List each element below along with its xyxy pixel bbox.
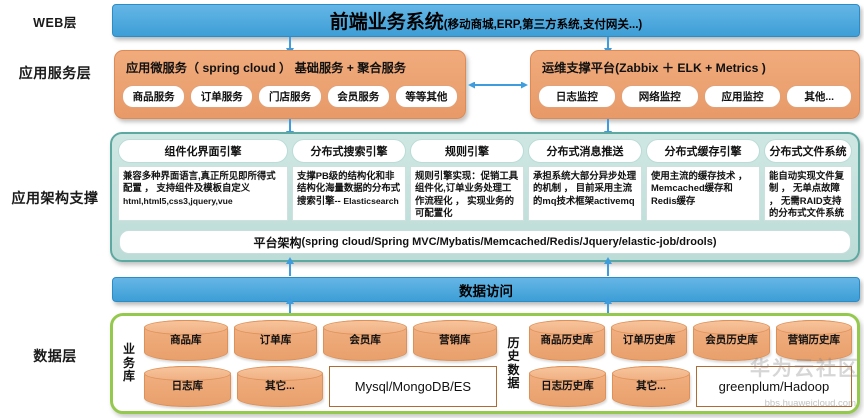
db-log-label: 日志库	[172, 381, 204, 393]
arch-col-body-ui-engine-lat: html,html5,css3,jquery,vue	[123, 196, 233, 206]
connector-web-to-ops-platform	[607, 37, 609, 49]
app-microservice-title: 应用微服务（ spring cloud ） 基础服务 + 聚合服务	[126, 58, 458, 76]
connector-web-to-app-micro	[289, 37, 291, 49]
connector-data-access-to-architecture-left	[289, 263, 291, 276]
db-marketing[interactable]: 营销库	[413, 320, 497, 361]
db-order-history-label: 订单历史库	[623, 335, 676, 347]
db-member-history[interactable]: 会员历史库	[693, 320, 769, 361]
layer-label-web: WEB层	[0, 12, 110, 31]
arch-col-body-file-system: 能自动实现文件复制 ， 无单点故障 ， 无需RAID支持的分布式文件系统 OSS…	[764, 166, 852, 221]
data-layer-container: 业务库 商品库 订单库 会员库 营销库 日志库 其它... Mysql/Mong…	[110, 313, 860, 414]
web-layer-bar: 前端业务系统(移动商城,ERP,第三方系统,支付网关...)	[112, 4, 860, 37]
web-layer-title-sub: (移动商城,ERP,第三方系统,支付网关...)	[444, 19, 643, 31]
pill-network-monitor[interactable]: 网络监控	[621, 85, 699, 108]
db-history-tech-box: greenplum/Hadoop	[696, 366, 852, 407]
arch-col-body-file-system-cn: 能自动实现文件复制 ， 无单点故障 ， 无需RAID支持的分布式文件系统	[769, 170, 844, 218]
db-order-label: 订单库	[260, 335, 292, 347]
layer-label-app-service: 应用服务层	[0, 63, 110, 83]
web-layer-title-main: 前端业务系统	[330, 12, 444, 33]
arch-col-file-system: 分布式文件系统 能自动实现文件复制 ， 无单点故障 ， 无需RAID支持的分布式…	[764, 139, 852, 221]
db-order[interactable]: 订单库	[234, 320, 318, 361]
arch-col-body-rule-engine: 规则引擎实现：促销工具组件化,订单业务处理工作流程化 ， 实现业务的可配置化	[410, 166, 524, 221]
db-product-history[interactable]: 商品历史库	[529, 320, 605, 361]
db-product-history-label: 商品历史库	[540, 335, 593, 347]
connector-app-micro-to-ops-platform	[474, 84, 522, 86]
db-group-history-label: 历史数据	[503, 320, 525, 407]
arch-col-head-cache-engine[interactable]: 分布式缓存引擎	[646, 139, 760, 163]
db-row-history-primary: 商品历史库 订单历史库 会员历史库 营销历史库	[529, 320, 852, 361]
connector-app-micro-to-architecture	[289, 119, 291, 132]
arch-col-cache-engine: 分布式缓存引擎 使用主流的缓存技术 ， Memcached缓存和Redis缓存	[646, 139, 760, 221]
db-other-history-label: 其它...	[636, 381, 666, 393]
arch-col-body-ui-engine-cn: 兼容多种界面语言,真正所见即所得式配置 ， 支持组件及模板自定义	[123, 170, 276, 193]
pill-order-service[interactable]: 订单服务	[190, 85, 253, 108]
db-member-history-label: 会员历史库	[705, 335, 758, 347]
db-group-business-grid: 商品库 订单库 会员库 营销库 日志库 其它... Mysql/MongoDB/…	[140, 320, 497, 407]
arch-col-head-rule-engine[interactable]: 规则引擎	[410, 139, 524, 163]
db-log[interactable]: 日志库	[144, 366, 231, 407]
arch-col-body-cache-engine-cn: 使用主流的缓存技术 ， Memcached缓存和Redis缓存	[651, 170, 747, 206]
pill-app-monitor[interactable]: 应用监控	[704, 85, 782, 108]
db-member[interactable]: 会员库	[323, 320, 407, 361]
architecture-diagram: WEB层 应用服务层 应用架构支撑 数据层 前端业务系统(移动商城,ERP,第三…	[0, 0, 864, 418]
arch-col-body-rule-engine-cn: 规则引擎实现：促销工具组件化,订单业务处理工作流程化 ， 实现业务的可配置化	[415, 170, 518, 218]
db-other-label: 其它...	[265, 381, 295, 393]
db-log-history[interactable]: 日志历史库	[529, 366, 607, 407]
db-group-business-label: 业务库	[118, 320, 140, 407]
db-product-label: 商品库	[170, 335, 202, 347]
db-marketing-history-label: 营销历史库	[788, 335, 841, 347]
db-row-business-primary: 商品库 订单库 会员库 营销库	[144, 320, 497, 361]
arch-col-search-engine: 分布式搜索引擎 支撑PB级的结构化和非结构化海量数据的分布式搜索引擎-- Ela…	[292, 139, 406, 221]
db-member-label: 会员库	[349, 335, 381, 347]
layer-label-architecture-support: 应用架构支撑	[0, 188, 110, 208]
pill-log-monitor[interactable]: 日志监控	[538, 85, 616, 108]
pill-product-service[interactable]: 商品服务	[122, 85, 185, 108]
arch-col-body-message-push-cn: 承担系统大部分异步处理的机制 ， 目前采用主流的mq技术框架activemq	[533, 170, 636, 206]
platform-architecture-title-cn: 平台架构	[253, 234, 301, 251]
db-group-history: 历史数据 商品历史库 订单历史库 会员历史库 营销历史库 日志历史库 其它...…	[503, 320, 852, 407]
db-other[interactable]: 其它...	[237, 366, 324, 407]
arch-col-head-message-push[interactable]: 分布式消息推送	[528, 139, 642, 163]
pill-member-service[interactable]: 会员服务	[327, 85, 390, 108]
arch-col-message-push: 分布式消息推送 承担系统大部分异步处理的机制 ， 目前采用主流的mq技术框架ac…	[528, 139, 642, 221]
arch-col-body-search-engine: 支撑PB级的结构化和非结构化海量数据的分布式搜索引擎-- Elasticsear…	[292, 166, 406, 221]
arch-col-head-file-system[interactable]: 分布式文件系统	[764, 139, 852, 163]
db-order-history[interactable]: 订单历史库	[611, 320, 687, 361]
ops-support-platform-pill-row: 日志监控 网络监控 应用监控 其他...	[538, 85, 852, 108]
architecture-support-container: 组件化界面引擎 兼容多种界面语言,真正所见即所得式配置 ， 支持组件及模板自定义…	[110, 132, 860, 262]
platform-architecture-title-lat: (spring cloud/Spring MVC/Mybatis/Memcach…	[301, 236, 716, 248]
data-access-title: 数据访问	[459, 280, 513, 300]
db-business-tech-box: Mysql/MongoDB/ES	[329, 366, 496, 407]
pill-other-service[interactable]: 等等其他	[395, 85, 458, 108]
db-marketing-label: 营销库	[439, 335, 471, 347]
arch-col-body-cache-engine: 使用主流的缓存技术 ， Memcached缓存和Redis缓存	[646, 166, 760, 221]
ops-support-platform-title: 运维支撑平台(Zabbix ＋ ELK + Metrics )	[542, 58, 852, 76]
arch-col-rule-engine: 规则引擎 规则引擎实现：促销工具组件化,订单业务处理工作流程化 ， 实现业务的可…	[410, 139, 524, 221]
connector-data-access-to-architecture-right	[607, 263, 609, 276]
arch-col-head-ui-engine[interactable]: 组件化界面引擎	[118, 139, 288, 163]
app-microservice-box: 应用微服务（ spring cloud ） 基础服务 + 聚合服务 商品服务 订…	[114, 50, 466, 119]
connector-ops-platform-to-architecture	[607, 119, 609, 132]
db-log-history-label: 日志历史库	[541, 381, 594, 393]
layer-label-data: 数据层	[0, 346, 110, 366]
ops-support-platform-box: 运维支撑平台(Zabbix ＋ ELK + Metrics ) 日志监控 网络监…	[530, 50, 860, 119]
arch-col-head-search-engine[interactable]: 分布式搜索引擎	[292, 139, 406, 163]
db-marketing-history[interactable]: 营销历史库	[776, 320, 852, 361]
db-other-history[interactable]: 其它...	[612, 366, 690, 407]
platform-architecture-bar: 平台架构(spring cloud/Spring MVC/Mybatis/Mem…	[119, 230, 851, 254]
db-product[interactable]: 商品库	[144, 320, 228, 361]
db-row-business-secondary: 日志库 其它... Mysql/MongoDB/ES	[144, 366, 497, 407]
db-group-history-grid: 商品历史库 订单历史库 会员历史库 营销历史库 日志历史库 其它... gree…	[525, 320, 852, 407]
data-access-bar: 数据访问	[112, 277, 860, 302]
pill-store-service[interactable]: 门店服务	[258, 85, 321, 108]
arch-col-ui-engine: 组件化界面引擎 兼容多种界面语言,真正所见即所得式配置 ， 支持组件及模板自定义…	[118, 139, 288, 221]
arch-col-body-search-engine-lat: Elasticsearch	[343, 196, 398, 206]
pill-other-monitor[interactable]: 其他...	[786, 85, 852, 108]
app-microservice-pill-row: 商品服务 订单服务 门店服务 会员服务 等等其他	[122, 85, 458, 108]
db-group-business: 业务库 商品库 订单库 会员库 营销库 日志库 其它... Mysql/Mong…	[118, 320, 497, 407]
arch-col-body-message-push: 承担系统大部分异步处理的机制 ， 目前采用主流的mq技术框架activemq	[528, 166, 642, 221]
architecture-columns: 组件化界面引擎 兼容多种界面语言,真正所见即所得式配置 ， 支持组件及模板自定义…	[118, 139, 852, 221]
web-layer-title: 前端业务系统(移动商城,ERP,第三方系统,支付网关...)	[330, 7, 643, 34]
arch-col-body-ui-engine: 兼容多种界面语言,真正所见即所得式配置 ， 支持组件及模板自定义 html,ht…	[118, 166, 288, 221]
db-row-history-secondary: 日志历史库 其它... greenplum/Hadoop	[529, 366, 852, 407]
